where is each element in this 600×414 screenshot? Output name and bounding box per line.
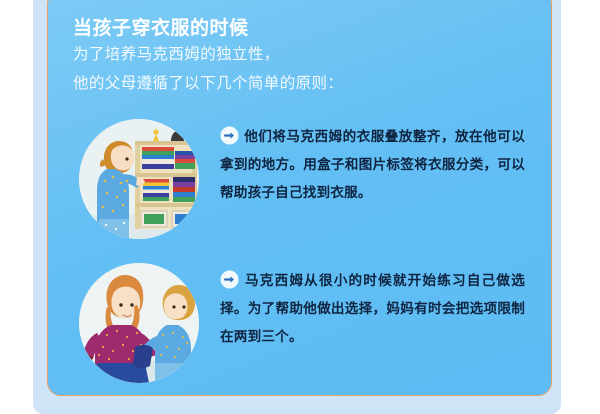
card-inner: 当孩子穿衣服的时候 为了培养马克西姆的独立性， 他的父母遵循了以下几个简单的原则… (48, 0, 551, 395)
section-2-text: 马克西姆从很小的时候就开始练习自己做选择。为了帮助他做出选择，妈妈有时会把选项限… (220, 267, 525, 351)
section-1-paragraph: 他们将马克西姆的衣服叠放整齐，放在他可以拿到的地方。用盒子和图片标签将衣服分类，… (220, 129, 525, 201)
content-card: 当孩子穿衣服的时候 为了培养马克西姆的独立性， 他的父母遵循了以下几个简单的原则… (47, 0, 552, 396)
arrow-right-circle-icon (220, 270, 239, 289)
page-root: 当孩子穿衣服的时候 为了培养马克西姆的独立性， 他的父母遵循了以下几个简单的原则… (0, 0, 600, 400)
child-folding-clothes-shelf-illustration (79, 119, 199, 239)
page-title: 当孩子穿衣服的时候 (73, 13, 249, 40)
section-2-paragraph: 马克西姆从很小的时候就开始练习自己做选择。为了帮助他做出选择，妈妈有时会把选项限… (220, 273, 525, 345)
section-1-text: 他们将马克西姆的衣服叠放整齐，放在他可以拿到的地方。用盒子和图片标签将衣服分类，… (220, 123, 525, 207)
mother-offering-clothing-choice-illustration (79, 263, 199, 383)
subtitle-line-1: 为了培养马克西姆的独立性， (73, 42, 280, 64)
arrow-right-circle-icon (220, 126, 239, 145)
subtitle-line-2: 他的父母遵循了以下几个简单的原则： (73, 71, 343, 93)
